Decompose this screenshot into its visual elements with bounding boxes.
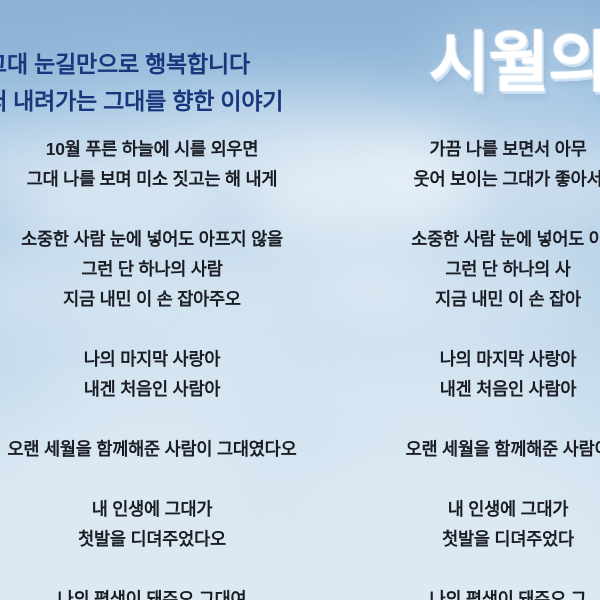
lyric-line: 지금 내민 이 손 잡아주오 (0, 284, 322, 314)
lyric-spacer (338, 314, 600, 344)
lyric-line: 오랜 세월을 함께해준 사람이 그대였다오 (0, 434, 322, 464)
lyric-line: 내 인생에 그대가 (338, 494, 600, 524)
lyric-line: 첫발을 디뎌주었다 (338, 524, 600, 554)
lyric-line: 나의 평생이 돼주오 그 (338, 584, 600, 600)
lyric-spacer (338, 464, 600, 494)
lyrics-column-left: 10월 푸른 하늘에 시를 외우면 그대 나를 보며 미소 짓고는 해 내게 소… (0, 134, 322, 600)
headline: 그대 눈길만으로 행복합니다 써 내려가는 그대를 향한 이야기 (0, 46, 406, 120)
lyric-line: 소중한 사람 눈에 넣어도 아 (338, 224, 600, 254)
lyric-line: 오랜 세월을 함께해준 사람이 (338, 434, 600, 464)
lyric-line: 그런 단 하나의 사 (338, 254, 600, 284)
lyric-line: 그런 단 하나의 사람 (0, 254, 322, 284)
lyrics-column-right: 가끔 나를 보면서 아무 웃어 보이는 그대가 좋아서 소중한 사람 눈에 넣어… (338, 134, 600, 600)
lyric-line: 나의 평생이 돼주오 그대여 (0, 584, 322, 600)
lyric-line: 내겐 처음인 사람아 (0, 374, 322, 404)
headline-line-1: 그대 눈길만으로 행복합니다 (0, 46, 406, 83)
lyric-spacer (0, 314, 322, 344)
lyric-line: 가끔 나를 보면서 아무 (338, 134, 600, 164)
lyric-spacer (0, 404, 322, 434)
lyric-line: 내겐 처음인 사람아 (338, 374, 600, 404)
lyric-spacer (338, 404, 600, 434)
lyric-spacer (0, 464, 322, 494)
lyric-spacer (0, 554, 322, 584)
lyric-spacer (338, 554, 600, 584)
lyric-spacer (0, 194, 322, 224)
lyrics-area: 10월 푸른 하늘에 시를 외우면 그대 나를 보며 미소 짓고는 해 내게 소… (0, 134, 600, 600)
lyric-line: 나의 마지막 사랑아 (0, 344, 322, 374)
lyric-line: 그대 나를 보며 미소 짓고는 해 내게 (0, 164, 322, 194)
lyric-line: 소중한 사람 눈에 넣어도 아프지 않을 (0, 224, 322, 254)
lyric-line: 지금 내민 이 손 잡아 (338, 284, 600, 314)
lyric-spacer (338, 194, 600, 224)
song-title: 시월의 (429, 26, 600, 98)
lyric-video-frame: 그대 눈길만으로 행복합니다 써 내려가는 그대를 향한 이야기 시월의 10월… (0, 0, 600, 600)
lyric-line: 10월 푸른 하늘에 시를 외우면 (0, 134, 322, 164)
lyric-line: 첫발을 디뎌주었다오 (0, 524, 322, 554)
lyric-line: 나의 마지막 사랑아 (338, 344, 600, 374)
headline-line-2: 써 내려가는 그대를 향한 이야기 (0, 83, 406, 120)
lyric-line: 내 인생에 그대가 (0, 494, 322, 524)
lyric-line: 웃어 보이는 그대가 좋아서 (338, 164, 600, 194)
